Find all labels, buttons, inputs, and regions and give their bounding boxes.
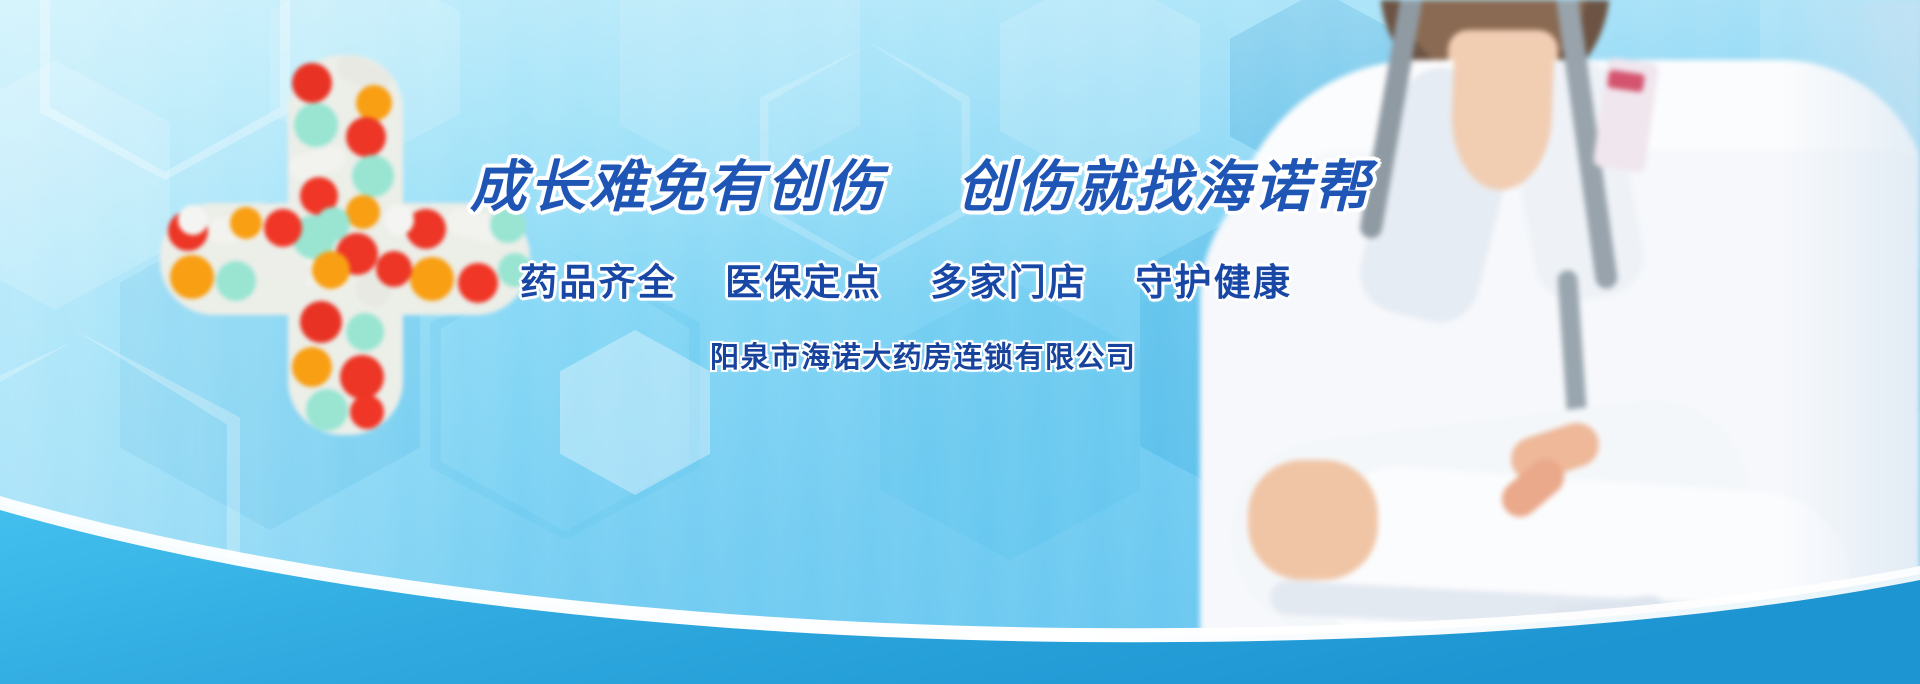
headline-part-2: 创伤就找海诺帮	[957, 155, 1373, 220]
headline: 成长难免有创伤 创伤就找海诺帮	[470, 142, 1373, 223]
feature-item-3: 多家门店	[930, 261, 1087, 304]
company-name: 阳泉市海诺大药房连锁有限公司	[710, 334, 1136, 376]
pharmacy-banner: 成长难免有创伤 创伤就找海诺帮 药品齐全 医保定点 多家门店 守护健康 阳泉市海…	[0, 0, 1920, 684]
feature-list: 药品齐全 医保定点 多家门店 守护健康	[520, 252, 1292, 306]
banner-copy: 成长难免有创伤 创伤就找海诺帮 药品齐全 医保定点 多家门店 守护健康 阳泉市海…	[0, 0, 1920, 684]
headline-part-1: 成长难免有创伤	[470, 155, 886, 220]
feature-item-2: 医保定点	[725, 261, 882, 304]
feature-item-1: 药品齐全	[520, 261, 677, 304]
feature-item-4: 守护健康	[1135, 261, 1292, 304]
